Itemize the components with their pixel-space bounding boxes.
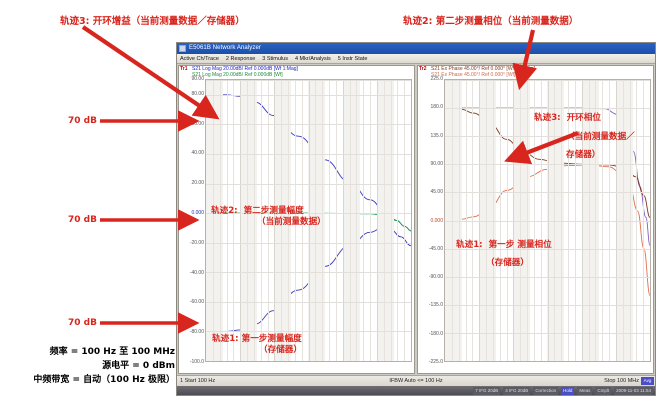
y-axis-tick-label: -180.0 (429, 331, 443, 337)
plot-vertical-gridline (343, 80, 344, 361)
plot-vertical-gridline (336, 80, 337, 361)
sys-chip-ifg1: 7 IFG 20dB (473, 387, 500, 395)
y-axis-tick-label: -100.0 (190, 359, 204, 365)
plot-vertical-gridline (391, 80, 392, 361)
plot-vertical-gridline (227, 80, 228, 361)
plot-horizontal-gridline (445, 108, 650, 109)
plot-vertical-gridline (370, 80, 371, 361)
y-axis-tick-label: 0.000 (191, 210, 204, 216)
y-axis-tick-label: -90.00 (429, 274, 443, 280)
plot-horizontal-gridline (445, 221, 650, 222)
left-y-axis-labels: 90.0080.0060.0040.0020.000.000-20.00-40.… (179, 79, 205, 362)
y-axis-tick-label: 0.000 (430, 218, 443, 224)
plot-horizontal-gridline (206, 331, 411, 332)
plot-vertical-gridline (363, 80, 364, 361)
left-channel-badge: Tr1 (180, 66, 188, 72)
annotation-trace2-step2-mag-line2: （当前测量数据） (257, 217, 326, 228)
plot-vertical-gridline (356, 80, 357, 361)
stimulus-status-bar: 1 Start 100 Hz IFBW Auto <= 100 Hz Stop … (177, 375, 655, 386)
plot-horizontal-gridline (206, 124, 411, 125)
sys-chip-cmplt: Cmplt (595, 387, 611, 395)
plot-vertical-gridline (377, 80, 378, 361)
y-axis-tick-label: 20.00 (191, 180, 204, 186)
menu-item-active-ch-trace[interactable]: Active Ch/Trace (180, 54, 219, 63)
y-axis-tick-label: -225.0 (429, 359, 443, 365)
menu-item-stimulus[interactable]: 3 Stimulus (262, 54, 288, 63)
y-axis-tick-label: 45.00 (430, 189, 443, 195)
sys-chip-ifg2: 4 IFG 20dB (503, 387, 530, 395)
plot-horizontal-gridline (445, 192, 650, 193)
plot-horizontal-gridline (206, 80, 411, 81)
annotation-trace1-step1-phase-line1: 轨迹1: 第一步 测量相位 (456, 240, 552, 251)
plot-vertical-gridline (329, 80, 330, 361)
window-title: E5061B Network Analyzer (189, 45, 261, 51)
sys-chip-datetime: 2009-11-03 11:54 (614, 387, 653, 395)
y-axis-tick-label: 80.00 (191, 91, 204, 97)
plot-vertical-gridline (397, 80, 398, 361)
y-axis-tick-label: 135.0 (430, 133, 443, 139)
ifbw-label[interactable]: IFBW Auto <= 100 Hz (389, 376, 442, 387)
y-axis-tick-label: -135.0 (429, 302, 443, 308)
annotation-trace1-step1-mag-line2: （存储器） (259, 345, 302, 356)
plot-vertical-gridline (350, 80, 351, 361)
y-axis-tick-label: -80.00 (190, 329, 204, 335)
y-axis-tick-label: 90.00 (191, 76, 204, 82)
plot-vertical-gridline (233, 80, 234, 361)
plot-horizontal-gridline (206, 302, 411, 303)
plot-horizontal-gridline (206, 272, 411, 273)
plot-horizontal-gridline (206, 243, 411, 244)
plot-vertical-gridline (404, 80, 405, 361)
system-status-bar: 7 IFG 20dB 4 IFG 20dB Correction Hold Me… (177, 386, 655, 396)
y-axis-tick-label: 90.00 (430, 161, 443, 167)
plot-horizontal-gridline (445, 333, 650, 334)
menu-item-response[interactable]: 2 Response (226, 54, 255, 63)
menu-item-mkr-analysis[interactable]: 4 Mkr/Analysis (295, 54, 331, 63)
annotation-trace3-phase-line2: （当前测量数据／ (566, 132, 635, 143)
plot-vertical-gridline (220, 80, 221, 361)
annotation-trace2-step2-mag-line1: 轨迹2: 第二步测量幅度 (211, 206, 304, 217)
start-frequency-label[interactable]: 1 Start 100 Hz (180, 376, 215, 387)
plot-horizontal-gridline (206, 154, 411, 155)
plot-horizontal-gridline (445, 277, 650, 278)
right-y-axis-labels: 225.0180.0135.090.0045.000.000-45.00-90.… (418, 79, 444, 362)
y-axis-tick-label: -20.00 (190, 240, 204, 246)
y-axis-tick-label: -40.00 (190, 270, 204, 276)
annotation-trace3-phase-line1: 轨迹3: 开环相位 (534, 113, 601, 124)
plot-horizontal-gridline (445, 164, 650, 165)
plot-horizontal-gridline (445, 361, 650, 362)
window-titlebar: E5061B Network Analyzer (177, 43, 655, 54)
menu-item-instr-state[interactable]: 5 Instr State (338, 54, 368, 63)
plot-horizontal-gridline (206, 95, 411, 96)
plot-vertical-gridline (240, 80, 241, 361)
stop-frequency-label[interactable]: Stop 100 MHz (604, 376, 639, 387)
plot-vertical-gridline (254, 80, 255, 361)
settings-line-source-level: 源电平 = 0 dBm (10, 359, 175, 373)
annotation-trace3-phase-line3: 存储器） (566, 150, 600, 161)
db-label-bottom: 70 dB (68, 318, 97, 328)
y-axis-tick-label: 60.00 (191, 121, 204, 127)
y-axis-tick-label: -60.00 (190, 299, 204, 305)
annotation-trace3-open-loop-gain: 轨迹3: 开环增益（当前测量数据／存储器） (60, 16, 245, 28)
avg-status-badge: Avg (641, 377, 654, 385)
annotation-trace1-step1-mag-line1: 轨迹1: 第一步测量幅度 (212, 334, 302, 345)
menu-bar[interactable]: Active Ch/Trace 2 Response 3 Stimulus 4 … (177, 54, 655, 64)
annotation-trace1-step1-phase-line2: （存储器） (486, 258, 529, 269)
left-trace2-info: S21 Log Mag 20.00dB/ Ref 0.000dB [Wf] (192, 72, 283, 78)
sys-chip-correction: Correction (533, 387, 558, 395)
plot-vertical-gridline (247, 80, 248, 361)
sys-chip-meas: Meas (577, 387, 592, 395)
db-label-top: 70 dB (68, 116, 97, 126)
app-icon (179, 45, 186, 52)
y-axis-tick-label: -45.00 (429, 246, 443, 252)
plot-vertical-gridline (384, 80, 385, 361)
y-axis-tick-label: 225.0 (430, 76, 443, 82)
plot-horizontal-gridline (445, 305, 650, 306)
sys-chip-hold: Hold (561, 387, 574, 395)
settings-line-frequency: 频率 = 100 Hz 至 100 MHz (10, 345, 175, 359)
y-axis-tick-label: 40.00 (191, 150, 204, 156)
y-axis-tick-label: 180.0 (430, 104, 443, 110)
right-channel-badge: Tr2 (419, 66, 427, 72)
plot-horizontal-gridline (206, 184, 411, 185)
settings-line-ifbw: 中频带宽 = 自动（100 Hz 极限） (0, 373, 175, 387)
plot-horizontal-gridline (206, 361, 411, 362)
plot-panes: Tr1 S21 Log Mag 20.00dB/ Ref 0.000dB [Wf… (177, 64, 655, 375)
db-label-middle: 70 dB (68, 215, 97, 225)
right-trace2-info: S21 Ex Phase 45.00°/ Ref 0.000° [Wf] (431, 72, 515, 78)
phase-pane[interactable]: Tr2 S21 Ex Phase 45.00°/ Ref 0.000° [Wf … (417, 65, 654, 374)
plot-vertical-gridline (213, 80, 214, 361)
annotation-trace2-step2-phase: 轨迹2: 第二步测量相位（当前测量数据） (403, 16, 578, 28)
plot-horizontal-gridline (445, 80, 650, 81)
